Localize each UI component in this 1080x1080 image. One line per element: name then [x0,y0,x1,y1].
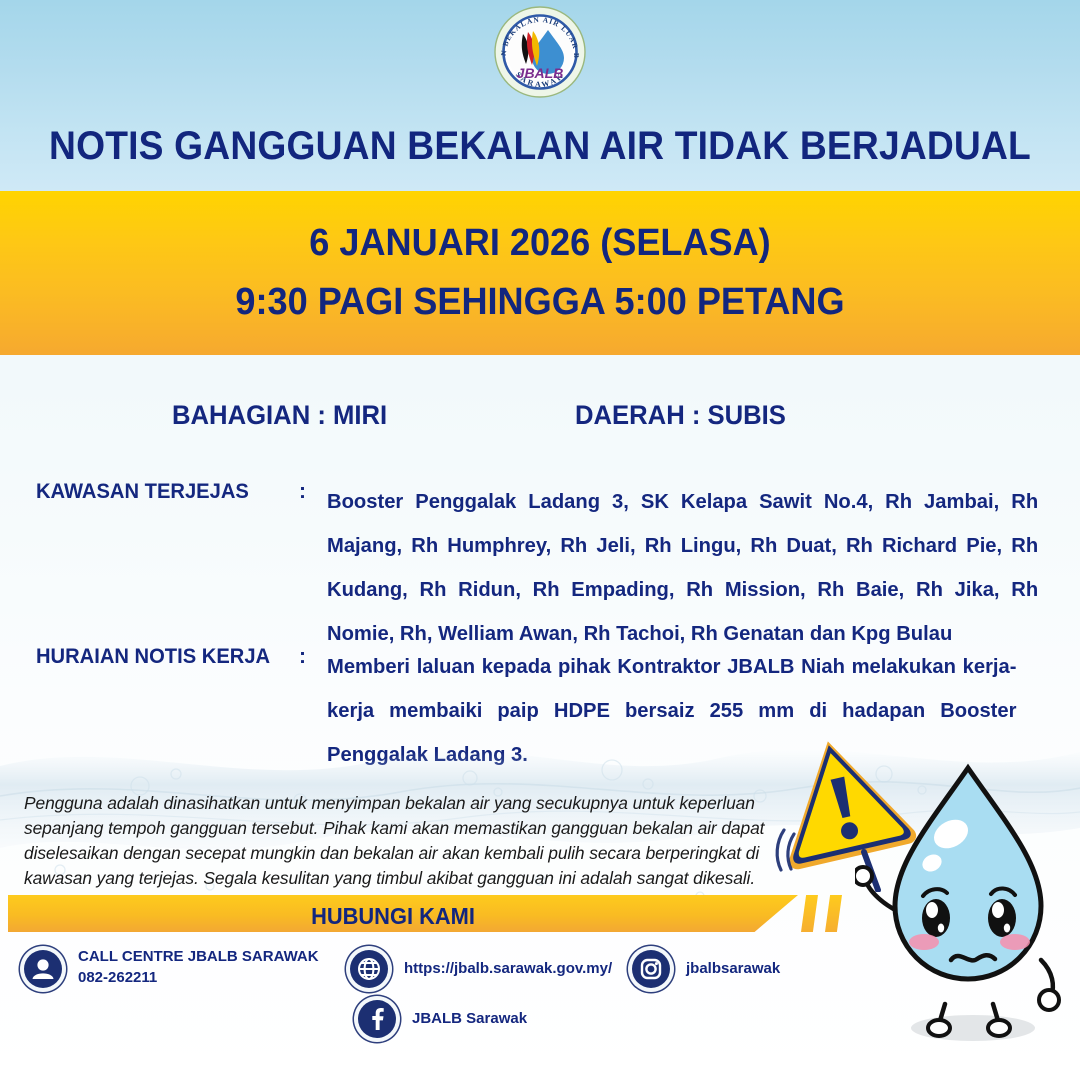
facebook-icon [358,1000,396,1038]
hubungi-kami-sliver-2 [825,895,842,932]
kawasan-terjejas-label: KAWASAN TERJEJAS [36,480,249,504]
huraian-notis-kerja-label: HURAIAN NOTIS KERJA [36,645,270,669]
page-title: NOTIS GANGGUAN BEKALAN AIR TIDAK BERJADU… [38,124,1042,169]
kawasan-terjejas-value: Booster Penggalak Ladang 3, SK Kelapa Sa… [327,480,1038,656]
call-centre-number: 082-262211 [78,969,157,986]
kawasan-colon: : [299,480,306,504]
jbalb-logo: JABATAN BEKALAN AIR LUAR BANDAR SARAWAK … [492,4,588,100]
hubungi-kami-sliver-1 [801,895,818,932]
facebook-page: JBALB Sarawak [412,1008,527,1029]
contact-call-centre-text: CALL CENTRE JBALB SARAWAK 082-262211 [78,946,319,988]
schedule-band [0,191,1080,355]
hubungi-kami-label: HUBUNGI KAMI [27,903,759,930]
region-row: BAHAGIAN : MIRI DAERAH : SUBIS [0,400,1080,440]
instagram-icon [632,950,670,988]
advisory-text: Pengguna adalah dinasihatkan untuk menyi… [24,791,772,891]
bahagian-label: BAHAGIAN : MIRI [172,400,387,431]
daerah-label: DAERAH : SUBIS [575,400,786,431]
logo-wordmark: JBALB [517,65,564,81]
globe-icon [350,950,388,988]
poster-root: JABATAN BEKALAN AIR LUAR BANDAR SARAWAK … [0,0,1080,1080]
schedule-time: 9:30 PAGI SEHINGGA 5:00 PETANG [27,281,1053,324]
huraian-colon: : [299,645,306,669]
instagram-handle: jbalbsarawak [686,958,780,979]
schedule-date: 6 JANUARI 2026 (SELASA) [27,222,1053,265]
website-url: https://jbalb.sarawak.gov.my/ [404,958,612,979]
person-icon [24,950,62,988]
water-droplet-mascot [855,728,1080,1080]
call-centre-name: CALL CENTRE JBALB SARAWAK [78,948,319,965]
